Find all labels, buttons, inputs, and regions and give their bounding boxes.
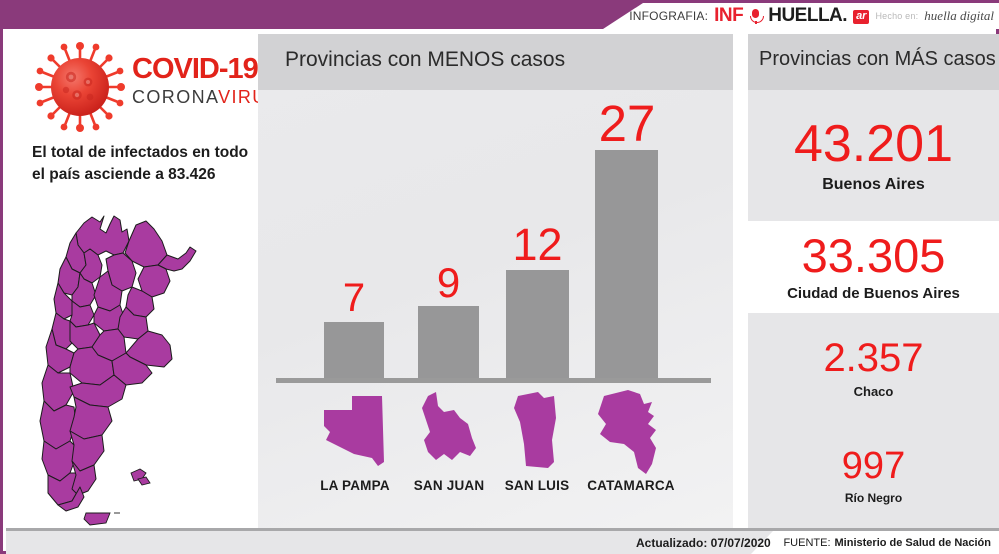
most-cases-row-ciudad-buenos-aires: 33.305 Ciudad de Buenos Aires	[748, 221, 999, 313]
less-cases-header: Provincias con MENOS casos	[258, 34, 733, 90]
bar-value-san-juan: 9	[418, 262, 479, 304]
corona-word: CORONA	[132, 87, 218, 107]
most-cases-title: Provincias con MÁS casos	[759, 48, 996, 71]
bar-value-san-luis: 12	[506, 222, 569, 267]
province-shape-catamarca	[588, 386, 666, 478]
coronavirus-icon	[30, 37, 130, 137]
most-cases-value: 997	[842, 447, 905, 485]
most-cases-name: Ciudad de Buenos Aires	[787, 285, 960, 302]
footer-source: FUENTE: Ministerio de Salud de Nación	[783, 531, 991, 554]
most-cases-name: Chaco	[854, 384, 894, 399]
hecho-en-label: Hecho en:	[875, 11, 918, 21]
footer-source-value: Ministerio de Salud de Nación	[835, 537, 991, 549]
most-cases-row-rio-negro: 997 Río Negro	[748, 423, 999, 528]
bar-catamarca	[595, 150, 658, 378]
chart-label-san-luis: SAN LUIS	[496, 478, 578, 493]
chart-label-san-juan: SAN JUAN	[408, 478, 490, 493]
brand-info-text: INF	[714, 5, 743, 27]
most-cases-value: 43.201	[794, 118, 953, 170]
bar-value-la-pampa: 7	[324, 278, 384, 318]
province-shape-la-pampa	[320, 392, 390, 472]
brand-huella-text: HUELLA.	[768, 5, 847, 27]
microphone-icon	[749, 9, 762, 24]
top-banner: INFOGRAFIA: INF HUELLA. ar Hecho en: hue…	[3, 3, 999, 29]
less-cases-title: Provincias con MENOS casos	[285, 48, 565, 72]
bar-san-luis	[506, 270, 569, 378]
chart-label-la-pampa: LA PAMPA	[314, 478, 396, 493]
infographic-frame: INFOGRAFIA: INF HUELLA. ar Hecho en: hue…	[0, 0, 999, 554]
most-cases-name: Río Negro	[845, 491, 902, 505]
province-shape-san-luis	[508, 388, 564, 474]
footer-source-label: FUENTE:	[783, 537, 830, 549]
chart-baseline	[276, 378, 711, 383]
footer-updated-label: Actualizado: 07/07/2020	[636, 531, 771, 554]
less-cases-bar-chart: 7 9 12 27 LA PAMPA SAN JUAN SAN LUIS CAT…	[258, 90, 733, 528]
infografia-label: INFOGRAFIA:	[629, 9, 708, 23]
brand-logo: INFOGRAFIA: INF HUELLA. ar Hecho en: hue…	[629, 3, 994, 29]
most-cases-row-buenos-aires: 43.201 Buenos Aires	[748, 90, 999, 221]
most-cases-value: 33.305	[802, 232, 946, 279]
brand-ar-badge: ar	[853, 10, 869, 24]
most-cases-name: Buenos Aires	[822, 176, 925, 194]
hecho-en-brand: huella digital	[924, 8, 994, 24]
bar-san-juan	[418, 306, 479, 378]
less-cases-panel: Provincias con MENOS casos 7 9 12 27	[258, 34, 733, 528]
province-shape-san-juan	[414, 390, 482, 474]
chart-label-catamarca: CATAMARCA	[582, 478, 680, 493]
total-infected-text: El total de infectados en todo el país a…	[32, 142, 252, 186]
footer-bar: Actualizado: 07/07/2020 FUENTE: Minister…	[6, 528, 999, 554]
left-column: COVID-19 CORONAVIRUS El total de infecta…	[6, 29, 256, 528]
argentina-map-icon	[26, 207, 241, 527]
bar-la-pampa	[324, 322, 384, 378]
most-cases-value: 2.357	[823, 338, 923, 378]
most-cases-panel: Provincias con MÁS casos 43.201 Buenos A…	[748, 34, 999, 528]
bar-value-catamarca: 27	[592, 98, 662, 149]
purple-banner-shape	[3, 3, 643, 29]
most-cases-row-chaco: 2.357 Chaco	[748, 313, 999, 423]
covid-logo: COVID-19 CORONAVIRUS	[14, 33, 254, 138]
most-cases-header: Provincias con MÁS casos	[748, 34, 999, 90]
